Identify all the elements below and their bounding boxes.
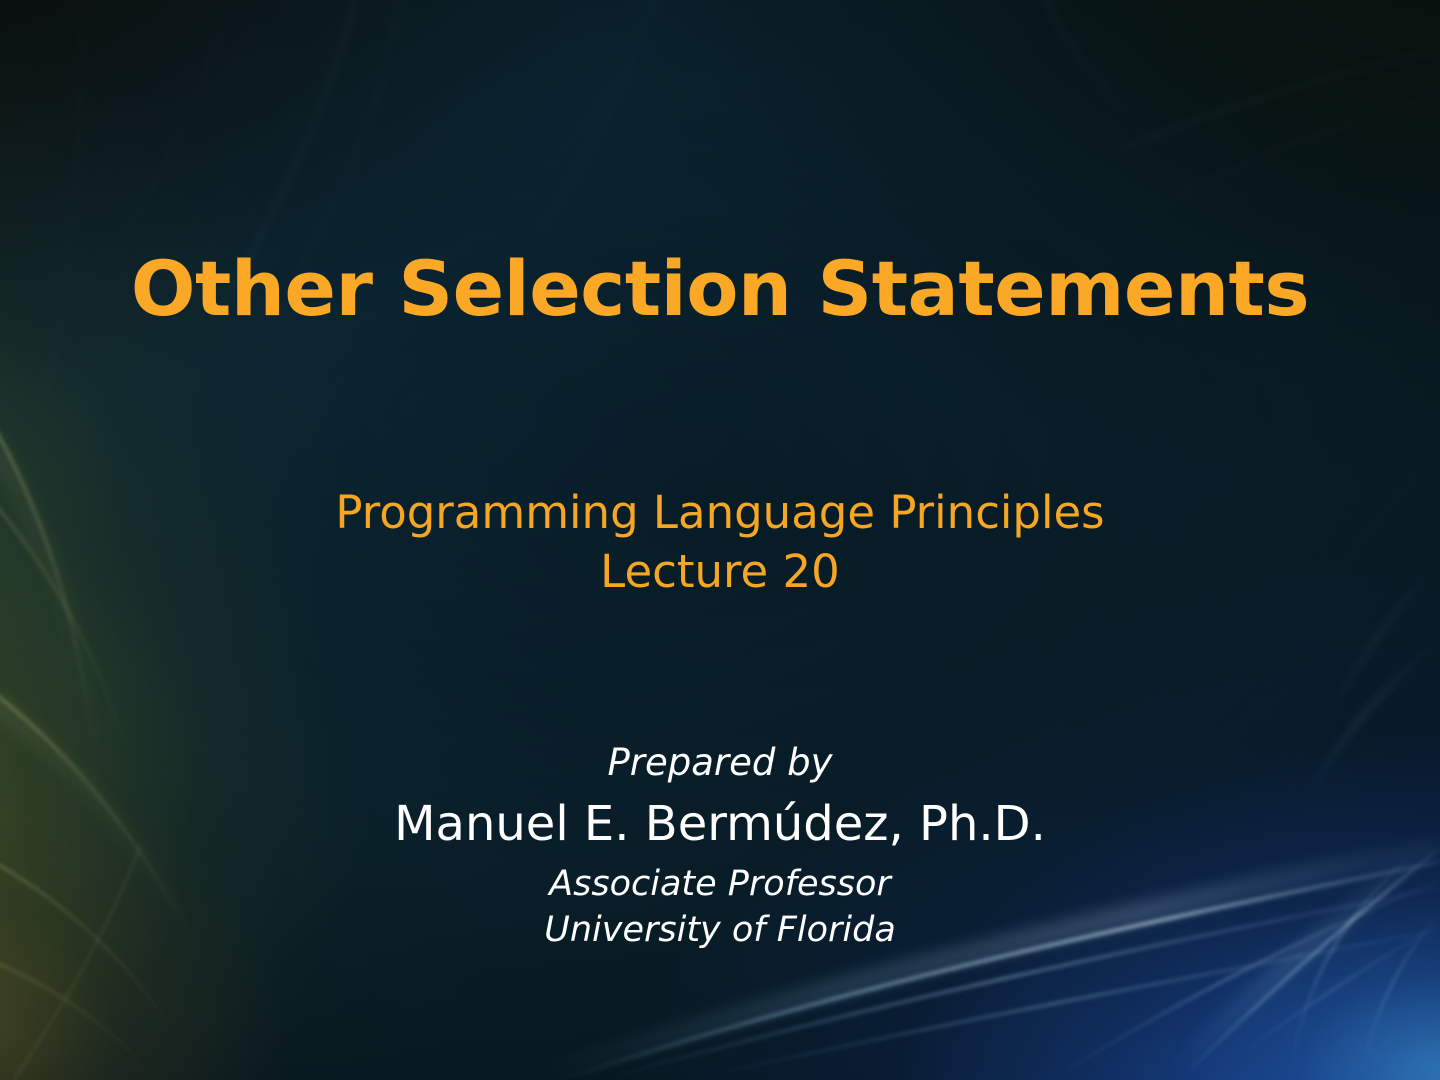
slide-credits: Prepared by Manuel E. Bermúdez, Ph.D. As…: [0, 740, 1440, 953]
author-title: Associate Professor: [0, 861, 1440, 907]
subtitle-lecture: Lecture 20: [0, 543, 1440, 602]
slide-content: Other Selection Statements Programming L…: [0, 0, 1440, 1080]
subtitle-course: Programming Language Principles: [0, 484, 1440, 543]
author-affiliation: University of Florida: [0, 907, 1440, 953]
prepared-by-label: Prepared by: [0, 740, 1440, 786]
slide-title: Other Selection Statements: [0, 249, 1440, 329]
slide-subtitle: Programming Language Principles Lecture …: [0, 484, 1440, 601]
author-name: Manuel E. Bermúdez, Ph.D.: [0, 792, 1440, 857]
presentation-slide: Other Selection Statements Programming L…: [0, 0, 1440, 1080]
